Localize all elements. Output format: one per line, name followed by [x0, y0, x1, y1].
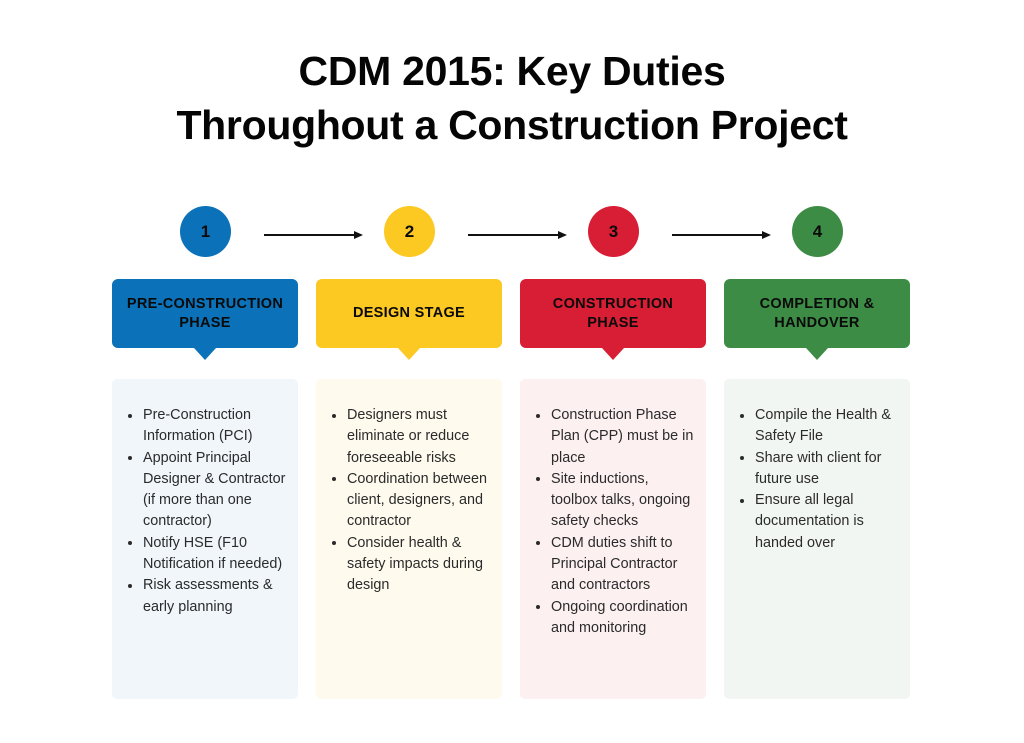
step-number-4: 4	[813, 222, 822, 242]
arrow-shaft	[672, 234, 764, 236]
stage-body-1: Pre-Construction Information (PCI) Appoi…	[112, 379, 298, 699]
stage-bullet-list-2: Designers must eliminate or reduce fores…	[326, 405, 490, 597]
arrow-head	[354, 231, 363, 239]
stage-bullet-list-1: Pre-Construction Information (PCI) Appoi…	[122, 405, 286, 618]
stage-column-2: DESIGN STAGE Designers must eliminate or…	[316, 279, 502, 348]
stage-header-label-1: PRE-CONSTRUCTION PHASE	[122, 295, 288, 333]
arrow-head	[558, 231, 567, 239]
list-item: Appoint Principal Designer & Contractor …	[122, 448, 286, 533]
stage-header-1[interactable]: PRE-CONSTRUCTION PHASE	[112, 279, 298, 348]
list-item: Share with client for future use	[734, 448, 898, 491]
header-tail-4	[806, 348, 828, 360]
step-number-1: 1	[201, 222, 210, 242]
header-tail-3	[602, 348, 624, 360]
list-item: Compile the Health & Safety File	[734, 405, 898, 448]
list-item: Ongoing coordination and monitoring	[530, 597, 694, 640]
step-circle-2[interactable]: 2	[384, 206, 435, 257]
header-tail-2	[398, 348, 420, 360]
stage-body-2: Designers must eliminate or reduce fores…	[316, 379, 502, 699]
title-line-1: CDM 2015: Key Duties	[0, 44, 1024, 98]
list-item: Pre-Construction Information (PCI)	[122, 405, 286, 448]
arrow-right-icon-2	[468, 231, 568, 240]
step-circle-1[interactable]: 1	[180, 206, 231, 257]
stage-header-3[interactable]: CONSTRUCTION PHASE	[520, 279, 706, 348]
stage-body-4: Compile the Health & Safety File Share w…	[724, 379, 910, 699]
arrow-head	[762, 231, 771, 239]
arrow-shaft	[468, 234, 560, 236]
stage-column-3: CONSTRUCTION PHASE Construction Phase Pl…	[520, 279, 706, 348]
stage-columns: PRE-CONSTRUCTION PHASE Pre-Construction …	[112, 279, 910, 699]
list-item: Risk assessments & early planning	[122, 575, 286, 618]
stage-header-4[interactable]: COMPLETION & HANDOVER	[724, 279, 910, 348]
page-title: CDM 2015: Key Duties Throughout a Constr…	[0, 44, 1024, 152]
arrow-right-icon-3	[672, 231, 772, 240]
list-item: Designers must eliminate or reduce fores…	[326, 405, 490, 469]
stage-header-label-2: DESIGN STAGE	[353, 304, 465, 323]
list-item: Ensure all legal documentation is handed…	[734, 490, 898, 554]
title-line-2: Throughout a Construction Project	[0, 98, 1024, 152]
stage-column-1: PRE-CONSTRUCTION PHASE Pre-Construction …	[112, 279, 298, 348]
step-number-3: 3	[609, 222, 618, 242]
stage-bullet-list-3: Construction Phase Plan (CPP) must be in…	[530, 405, 694, 639]
arrow-shaft	[264, 234, 356, 236]
list-item: Notify HSE (F10 Notification if needed)	[122, 533, 286, 576]
list-item: Construction Phase Plan (CPP) must be in…	[530, 405, 694, 469]
header-tail-1	[194, 348, 216, 360]
stage-bullet-list-4: Compile the Health & Safety File Share w…	[734, 405, 898, 554]
list-item: Coordination between client, designers, …	[326, 469, 490, 533]
stage-header-label-4: COMPLETION & HANDOVER	[734, 295, 900, 333]
arrow-right-icon-1	[264, 231, 364, 240]
step-circle-3[interactable]: 3	[588, 206, 639, 257]
step-number-2: 2	[405, 222, 414, 242]
stage-stepper: 1 2 3 4	[112, 206, 912, 258]
list-item: CDM duties shift to Principal Contractor…	[530, 533, 694, 597]
step-circle-4[interactable]: 4	[792, 206, 843, 257]
list-item: Consider health & safety impacts during …	[326, 533, 490, 597]
stage-column-4: COMPLETION & HANDOVER Compile the Health…	[724, 279, 910, 348]
list-item: Site inductions, toolbox talks, ongoing …	[530, 469, 694, 533]
stage-header-label-3: CONSTRUCTION PHASE	[530, 295, 696, 333]
stage-header-2[interactable]: DESIGN STAGE	[316, 279, 502, 348]
stage-body-3: Construction Phase Plan (CPP) must be in…	[520, 379, 706, 699]
